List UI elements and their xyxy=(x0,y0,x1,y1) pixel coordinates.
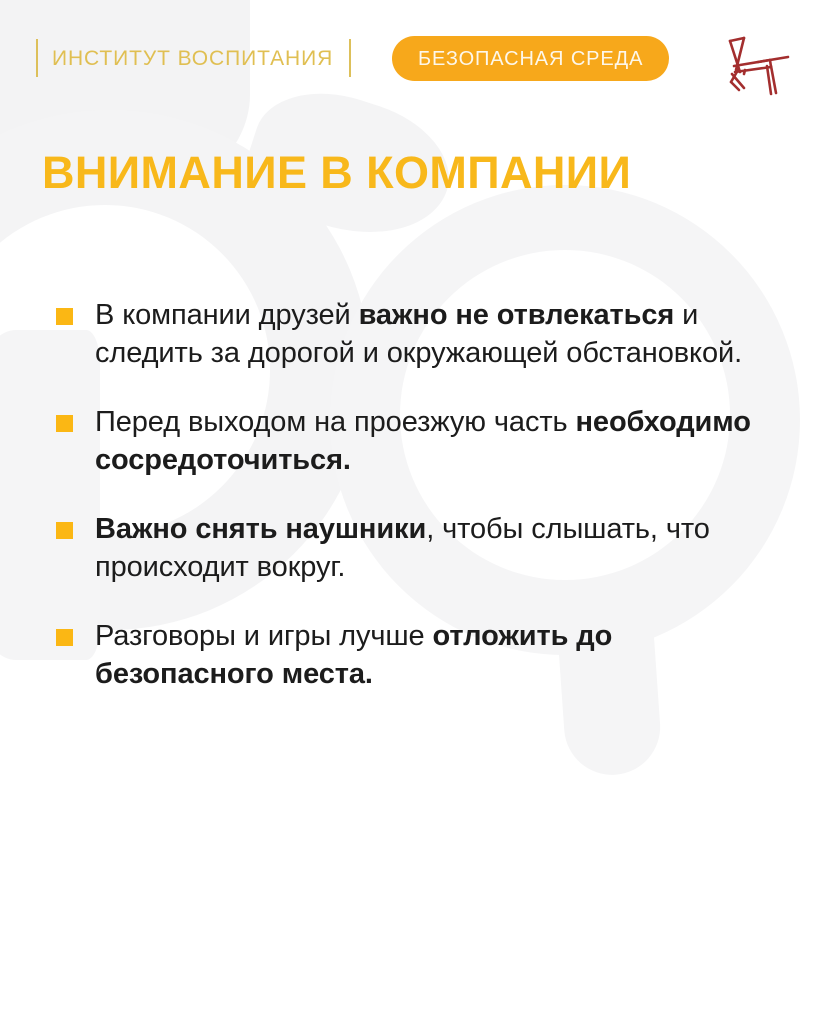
brand-left-rule xyxy=(36,39,38,77)
advice-list: В компании друзей важно не отвлекаться и… xyxy=(56,296,776,724)
square-bullet-icon xyxy=(56,522,73,539)
header: ИНСТИТУТ ВОСПИТАНИЯ БЕЗОПАСНАЯ СРЕДА xyxy=(0,0,819,112)
infographic-card: ИНСТИТУТ ВОСПИТАНИЯ БЕЗОПАСНАЯ СРЕДА xyxy=(0,0,819,1024)
list-item-text: Важно снять наушники, чтобы слышать, что… xyxy=(95,510,776,586)
program-badge-label: БЕЗОПАСНАЯ СРЕДА xyxy=(418,49,643,69)
list-item-text: Перед выходом на проезжую часть необходи… xyxy=(95,403,776,479)
square-bullet-icon xyxy=(56,415,73,432)
brand-divider-rule xyxy=(349,39,351,77)
list-item: Важно снять наушники, чтобы слышать, что… xyxy=(56,510,776,586)
square-bullet-icon xyxy=(56,629,73,646)
brand-lockup: ИНСТИТУТ ВОСПИТАНИЯ xyxy=(36,38,351,78)
list-item: В компании друзей важно не отвлекаться и… xyxy=(56,296,776,372)
brand-name-label: ИНСТИТУТ ВОСПИТАНИЯ xyxy=(52,48,333,69)
list-item: Разговоры и игры лучше отложить до безоп… xyxy=(56,617,776,693)
list-item-text: В компании друзей важно не отвлекаться и… xyxy=(95,296,776,372)
square-bullet-icon xyxy=(56,308,73,325)
list-item: Перед выходом на проезжую часть необходи… xyxy=(56,403,776,479)
list-item-text: Разговоры и игры лучше отложить до безоп… xyxy=(95,617,776,693)
page-title: ВНИМАНИЕ В КОМПАНИИ xyxy=(42,150,631,195)
chair-line-art-icon xyxy=(714,26,790,98)
program-badge: БЕЗОПАСНАЯ СРЕДА xyxy=(392,36,669,81)
